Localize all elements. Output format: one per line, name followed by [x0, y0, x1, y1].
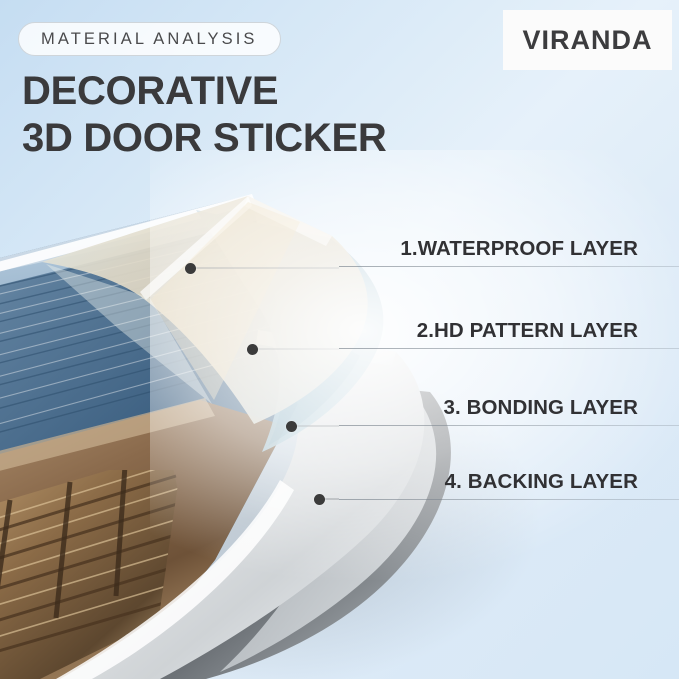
callout-bonding-layer: 3. BONDING LAYER: [339, 392, 679, 426]
callout-rule-1: [339, 266, 679, 267]
material-analysis-infographic: MATERIAL ANALYSIS DECORATIVE 3D DOOR STI…: [0, 0, 679, 679]
badge-label: MATERIAL ANALYSIS: [41, 30, 258, 49]
callout-rule-3: [339, 425, 679, 426]
page-title-line-2: 3D DOOR STICKER: [22, 115, 386, 162]
callout-label-2: 2.HD PATTERN LAYER: [417, 319, 638, 343]
callout-rule-2: [339, 348, 679, 349]
marker-dot-hd-pattern-layer: [247, 344, 258, 355]
callout-label-1: 1.WATERPROOF LAYER: [400, 237, 638, 261]
marker-dot-waterproof-layer: [185, 263, 196, 274]
marker-dot-backing-layer: [314, 494, 325, 505]
brand-logo: VIRANDA: [503, 10, 672, 70]
callout-backing-layer: 4. BACKING LAYER: [339, 466, 679, 500]
callout-rule-4: [339, 499, 679, 500]
callout-hd-pattern-layer: 2.HD PATTERN LAYER: [339, 315, 679, 349]
callout-label-3: 3. BONDING LAYER: [444, 396, 639, 420]
material-analysis-badge: MATERIAL ANALYSIS: [18, 22, 281, 56]
page-title: DECORATIVE 3D DOOR STICKER: [22, 68, 386, 162]
callout-waterproof-layer: 1.WATERPROOF LAYER: [339, 233, 679, 267]
brand-name: VIRANDA: [522, 25, 652, 56]
callout-label-4: 4. BACKING LAYER: [445, 470, 638, 494]
marker-dot-bonding-layer: [286, 421, 297, 432]
page-title-line-1: DECORATIVE: [22, 69, 278, 113]
